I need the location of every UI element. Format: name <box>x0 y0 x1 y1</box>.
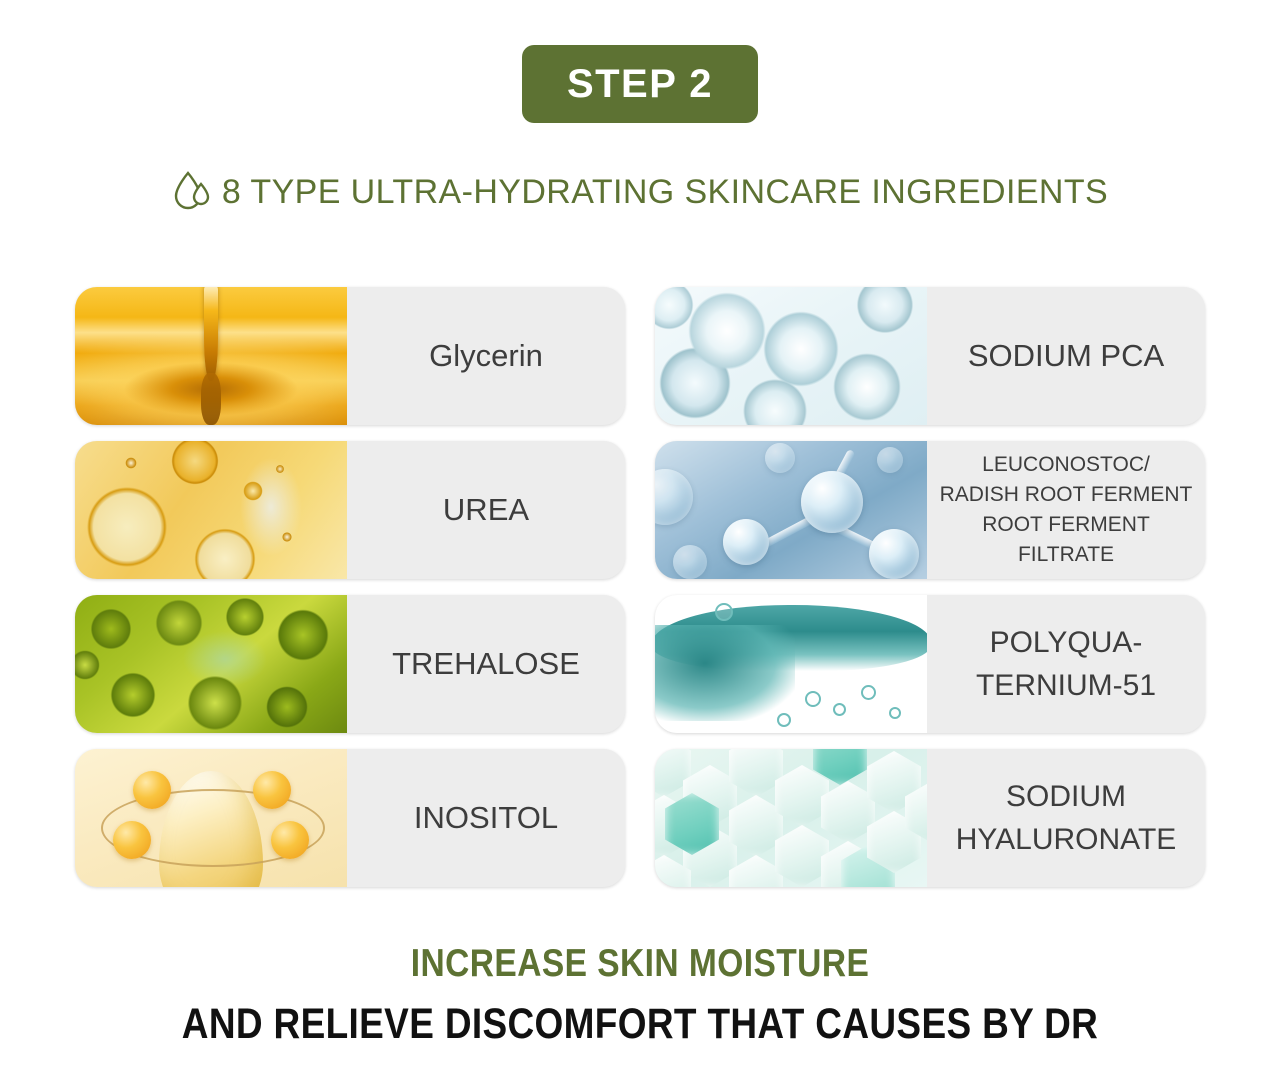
headline-text: 8 TYPE ULTRA-HYDRATING SKINCARE INGREDIE… <box>222 173 1108 212</box>
molecule-node <box>801 471 863 533</box>
glycerin-thumbnail <box>75 287 347 425</box>
yellow-oil-bubbles-image <box>75 441 347 579</box>
sodium-pca-thumbnail <box>655 287 927 425</box>
teal-water-splash-image <box>655 595 927 733</box>
trehalose-thumbnail <box>75 595 347 733</box>
headline-container: 8 TYPE ULTRA-HYDRATING SKINCARE INGREDIE… <box>0 170 1280 214</box>
orbit-sphere <box>113 821 151 859</box>
ingredient-label-polyquaternium: POLYQUA- TERNIUM-51 <box>927 595 1205 733</box>
hexagon-cell <box>729 855 783 887</box>
blue-molecule-image <box>655 441 927 579</box>
molecule-node <box>655 469 693 525</box>
ingredient-label-leuconostoc: LEUCONOSTOC/ RADISH ROOT FERMENT ROOT FE… <box>927 441 1205 579</box>
step-badge-container: STEP 2 <box>0 45 1280 123</box>
polyquaternium-line-1: POLYQUA- <box>990 626 1143 659</box>
ingredient-label-urea: UREA <box>347 441 625 579</box>
inositol-thumbnail <box>75 749 347 887</box>
green-spheres-image <box>75 595 347 733</box>
orbit-sphere <box>271 821 309 859</box>
ingredient-card-leuconostoc[interactable]: LEUCONOSTOC/ RADISH ROOT FERMENT ROOT FE… <box>655 441 1205 579</box>
ingredient-label-glycerin: Glycerin <box>347 287 625 425</box>
polyquaternium-thumbnail <box>655 595 927 733</box>
ingredient-card-polyquaternium[interactable]: POLYQUA- TERNIUM-51 <box>655 595 1205 733</box>
polyquaternium-line-2: TERNIUM-51 <box>976 669 1156 702</box>
ingredient-card-trehalose[interactable]: TREHALOSE <box>75 595 625 733</box>
ingredient-card-sodium-pca[interactable]: SODIUM PCA <box>655 287 1205 425</box>
urea-thumbnail <box>75 441 347 579</box>
ingredient-card-glycerin[interactable]: Glycerin <box>75 287 625 425</box>
ingredient-label-sodium-hyaluronate: SODIUM HYALURONATE <box>927 749 1205 887</box>
sodium-hyaluronate-line-1: SODIUM <box>1006 780 1126 813</box>
water-bubble <box>861 685 876 700</box>
sodium-hyaluronate-thumbnail <box>655 749 927 887</box>
ingredient-card-sodium-hyaluronate[interactable]: SODIUM HYALURONATE <box>655 749 1205 887</box>
water-bubble <box>805 691 821 707</box>
water-bubble <box>715 603 733 621</box>
ingredient-card-urea[interactable]: UREA <box>75 441 625 579</box>
ingredient-label-inositol: INOSITOL <box>347 749 625 887</box>
hexagon-cell <box>729 795 783 857</box>
hexagon-cell <box>775 765 829 827</box>
ingredients-grid: Glycerin SODIUM PCA UREA <box>75 287 1205 887</box>
hexagon-cell <box>729 749 783 797</box>
golden-oil-drop-ripple-image <box>75 287 347 425</box>
footer-headline-green: INCREASE SKIN MOISTURE <box>90 942 1191 986</box>
golden-drop-orbit-image <box>75 749 347 887</box>
step-badge: STEP 2 <box>522 45 758 123</box>
sodium-hyaluronate-line-2: HYALURONATE <box>956 823 1177 856</box>
molecule-node <box>877 447 903 473</box>
ingredient-label-sodium-pca: SODIUM PCA <box>927 287 1205 425</box>
water-bubble <box>777 713 791 727</box>
molecule-node <box>869 529 919 579</box>
orbit-sphere <box>133 771 171 809</box>
mint-honeycomb-image <box>655 749 927 887</box>
water-bubble <box>833 703 846 716</box>
molecule-node <box>765 443 795 473</box>
leuconostoc-line-2: RADISH ROOT FERMENT <box>940 483 1193 506</box>
molecule-node <box>673 545 707 579</box>
leuconostoc-line-1: LEUCONOSTOC/ <box>982 453 1150 476</box>
hexagon-cell <box>775 825 829 887</box>
ingredient-label-trehalose: TREHALOSE <box>347 595 625 733</box>
leuconostoc-line-3: ROOT FERMENT FILTRATE <box>982 513 1150 566</box>
ingredient-card-inositol[interactable]: INOSITOL <box>75 749 625 887</box>
water-drop-icon <box>172 170 212 214</box>
water-bubbles-image <box>655 287 927 425</box>
water-bubble <box>889 707 901 719</box>
water-wave <box>655 625 795 721</box>
leuconostoc-thumbnail <box>655 441 927 579</box>
hexagon-cell <box>821 781 875 843</box>
footer-headline-black: AND RELIEVE DISCOMFORT THAT CAUSES BY DR <box>90 1000 1191 1049</box>
molecule-node <box>723 519 769 565</box>
orbit-sphere <box>253 771 291 809</box>
